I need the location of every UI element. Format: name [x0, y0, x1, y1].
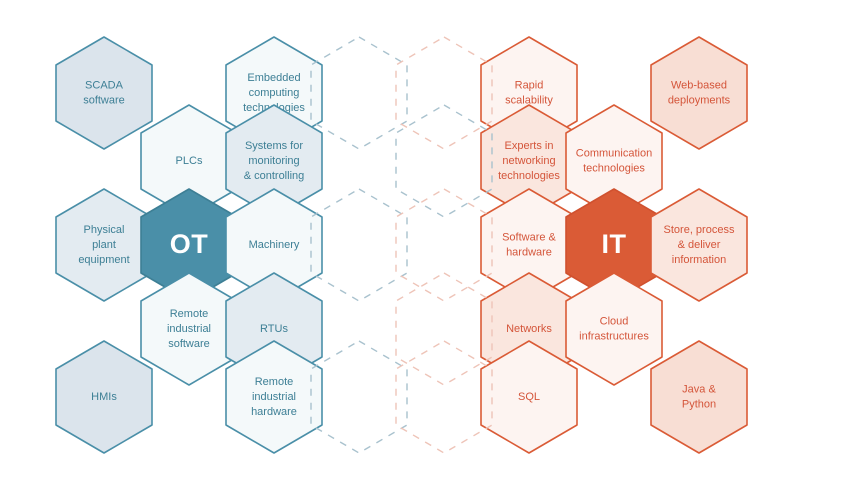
hex-label: OT [170, 229, 209, 259]
hex-placeholder-blue-2 [311, 189, 407, 301]
hex-cloud-infrastructures[interactable]: Cloudinfrastructures [566, 273, 662, 385]
hex-placeholder-blue-1 [311, 37, 407, 149]
hex-shape [396, 341, 492, 453]
hex-physical-plant-equipment[interactable]: Physicalplantequipment [56, 189, 152, 301]
hex-scada-software[interactable]: SCADAsoftware [56, 37, 152, 149]
honeycomb-svg: SCADAsoftwarePLCsEmbeddedcomputingtechno… [0, 0, 845, 480]
hex-label: Remoteindustrialsoftware [167, 308, 211, 350]
hex-shape [566, 273, 662, 385]
hex-label: PLCs [176, 155, 203, 167]
hex-java-python[interactable]: Java &Python [651, 341, 747, 453]
hex-placeholder-blue-3 [311, 341, 407, 453]
hex-label: Systems formonitoring& controlling [244, 140, 305, 182]
hex-placeholder-pink-3 [396, 341, 492, 453]
hex-hmis[interactable]: HMIs [56, 341, 152, 453]
hex-label: RTUs [260, 323, 288, 335]
hex-shape [651, 37, 747, 149]
hex-placeholder-pink-1 [396, 37, 492, 149]
hex-placeholder-pink-4 [396, 273, 492, 385]
hex-shape [396, 273, 492, 385]
diagram-canvas: SCADAsoftwarePLCsEmbeddedcomputingtechno… [0, 0, 845, 480]
hex-label: IT [602, 229, 627, 259]
hex-shape [311, 341, 407, 453]
hex-label: Remoteindustrialhardware [251, 376, 297, 418]
hex-shape [396, 105, 492, 217]
hex-label: SQL [518, 391, 540, 403]
hex-shape [651, 341, 747, 453]
hex-store-process-deliver[interactable]: Store, process& deliverinformation [651, 189, 747, 301]
hex-label: Machinery [249, 239, 300, 251]
hex-remote-industrial-software[interactable]: Remoteindustrialsoftware [141, 273, 237, 385]
hex-placeholder-pink-2 [396, 189, 492, 301]
hex-label: Networks [506, 323, 552, 335]
hex-shape [396, 37, 492, 149]
hex-shape [311, 189, 407, 301]
hex-label: HMIs [91, 391, 117, 403]
hex-shape [56, 37, 152, 149]
hex-shape [396, 189, 492, 301]
hex-label: Experts innetworkingtechnologies [498, 140, 560, 182]
hex-web-based-deployments[interactable]: Web-baseddeployments [651, 37, 747, 149]
hex-placeholder-blue-4 [396, 105, 492, 217]
hex-shape [311, 37, 407, 149]
